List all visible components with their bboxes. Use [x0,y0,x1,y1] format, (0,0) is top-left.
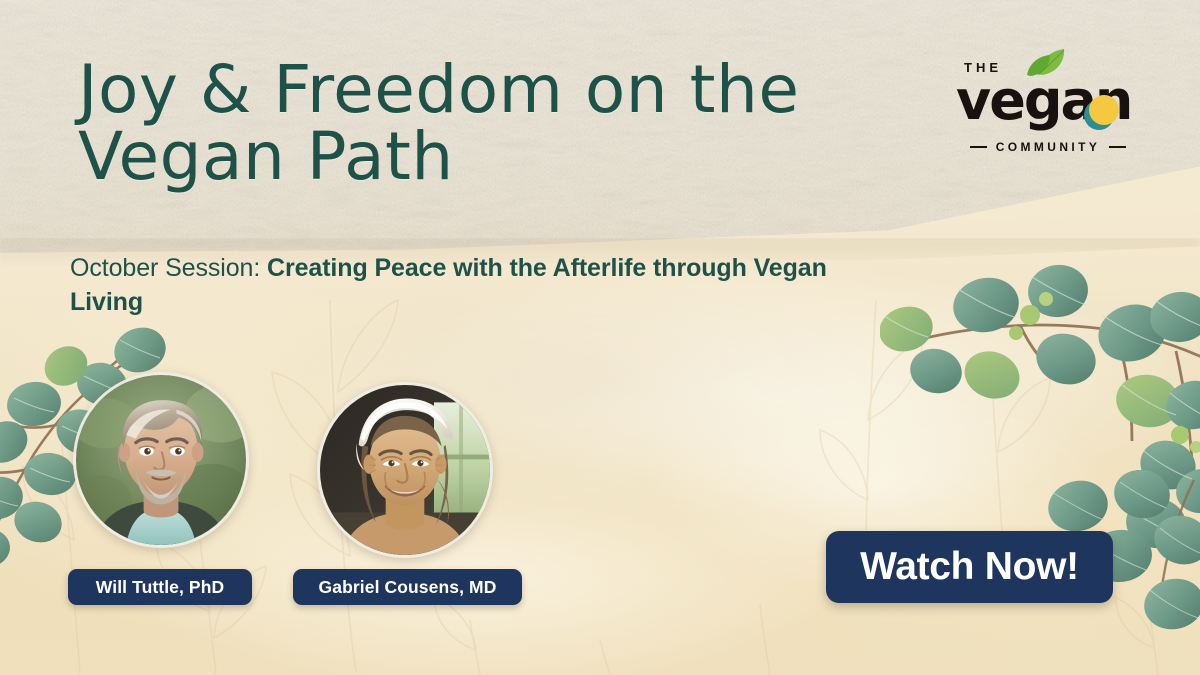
avatar-will-tuttle[interactable] [73,372,249,548]
avatar-gabriel-cousens[interactable] [317,382,493,558]
watch-now-label: Watch Now! [860,545,1079,589]
session-subtitle: October Session: Creating Peace with the… [70,252,830,319]
speaker-name-text: Gabriel Cousens, MD [319,577,497,598]
avatar-will-tuttle-image [76,375,246,545]
title-line-1: Joy & Freedom on the [78,56,898,123]
logo-community-text: COMMUNITY [996,140,1101,154]
page-title: Joy & Freedom on the Vegan Path [78,56,898,191]
webinar-promo-banner: Joy & Freedom on the Vegan Path October … [0,0,1200,675]
title-line-2: Vegan Path [78,123,898,190]
logo-dash-right [1109,146,1126,148]
brand-logo[interactable]: THE vegan COMMUNITY [948,52,1148,164]
logo-community-row: COMMUNITY [948,140,1148,154]
logo-dash-left [970,146,987,148]
sun-circle-icon [1082,92,1122,132]
speaker-name-text: Will Tuttle, PhD [96,577,224,598]
watch-now-button[interactable]: Watch Now! [826,531,1113,603]
speaker-name-badge: Will Tuttle, PhD [68,569,252,605]
avatar-gabriel-cousens-image [320,385,490,555]
subtitle-prefix: October Session: [70,254,267,282]
speaker-name-badge: Gabriel Cousens, MD [293,569,522,605]
